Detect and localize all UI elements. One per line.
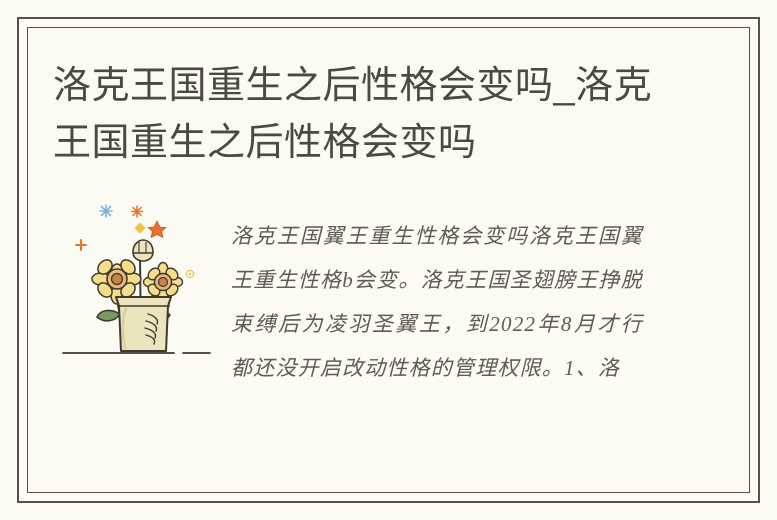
snowflake-sparkle-icon [100, 205, 112, 217]
starburst-sparkle-icon-1 [132, 206, 143, 217]
sunflowers-in-vase-illustration [58, 196, 218, 376]
vase [116, 297, 171, 351]
diamond-sparkle-icon [134, 222, 145, 233]
plus-sparkle-icon [76, 240, 86, 250]
page-title: 洛克王国重生之后性格会变吗_洛克王国重生之后性格会变吗 [53, 58, 673, 172]
article-body: 洛克王国翼王重生性格会变吗洛克王国翼王重生性格b会变。洛克王国圣翅膀王挣脱束缚后… [231, 214, 643, 390]
document-page: 洛克王国重生之后性格会变吗_洛克王国重生之后性格会变吗 [0, 0, 777, 520]
dot-sparkle-icon-2 [189, 273, 191, 275]
sunflower-right [144, 263, 183, 302]
flower-bud [133, 240, 153, 261]
star-sparkle-icon [148, 221, 166, 238]
